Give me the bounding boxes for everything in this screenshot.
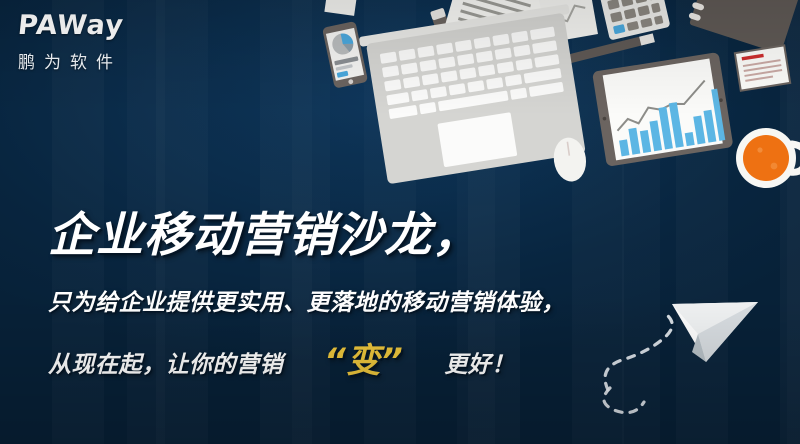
marketing-banner: PAWay 鹏为软件 企业移动营销沙龙， 只为给企业提供更实用、更落地的移动营销… (0, 0, 800, 444)
vignette-overlay (0, 0, 800, 444)
